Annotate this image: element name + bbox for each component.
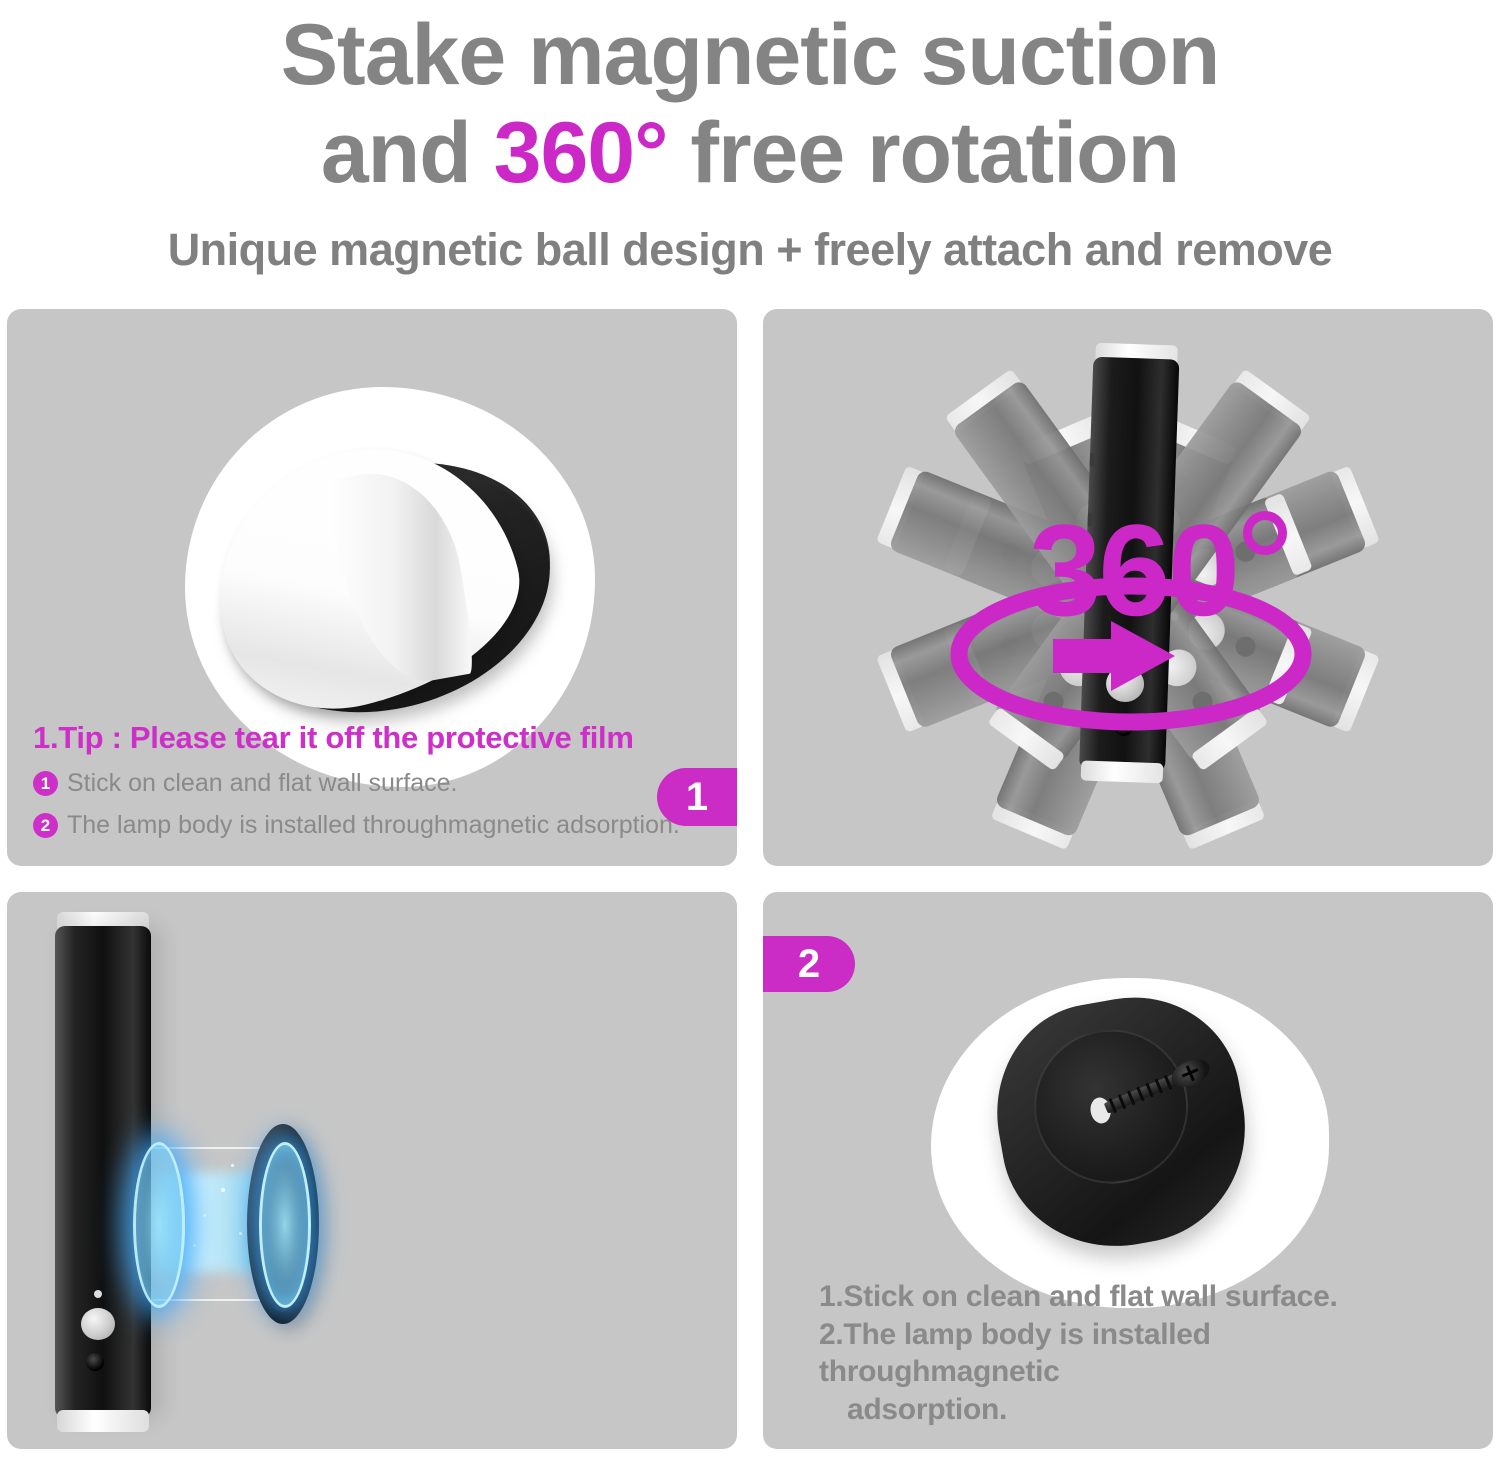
lamp-seam [1090, 453, 1095, 467]
title-suffix: free rotation [668, 105, 1180, 201]
indicator-dot-icon [94, 1290, 102, 1298]
rotation-panel: 360 [763, 309, 1493, 866]
step-badge-2: 2 [763, 936, 855, 992]
magnetic-attachment-panel [7, 892, 737, 1449]
wall-plate-panel: 2 1.Stick on clean and flat wall surface… [763, 892, 1493, 1449]
lamp-body [55, 926, 151, 1418]
spark-particle [231, 1164, 234, 1167]
step-badge-1: 1 [657, 768, 737, 826]
lamp-end-cap-icon [1081, 760, 1164, 783]
page-title-line-1: Stake magnetic suction [0, 6, 1500, 104]
header: Stake magnetic suction and 360° free rot… [0, 0, 1500, 276]
list-item: 1 Stick on clean and flat wall surface. [33, 769, 673, 798]
panel-grid: 1.Tip : Please tear it off the protectiv… [7, 309, 1493, 1451]
degree-symbol-icon [1243, 511, 1287, 555]
page-subtitle: Unique magnetic ball design + freely att… [0, 224, 1500, 276]
title-text-line-1: Stake magnetic suction [281, 7, 1220, 103]
spark-particle [203, 1214, 206, 1217]
title-prefix: and [321, 105, 494, 201]
adhesive-pad-panel: 1.Tip : Please tear it off the protectiv… [7, 309, 737, 866]
numbered-bullet-icon: 2 [33, 813, 58, 838]
pir-sensor-icon [81, 1308, 115, 1340]
adhesive-pad-illustration [215, 437, 565, 737]
rotation-value-text: 360 [1029, 505, 1237, 635]
spark-particle [221, 1188, 225, 1192]
rotation-annotation: 360 [903, 469, 1363, 749]
panel1-caption: 1.Tip : Please tear it off the protectiv… [33, 720, 673, 840]
magnetic-glow-ring-right [259, 1142, 311, 1308]
spark-particle [239, 1232, 242, 1235]
wall-lamp-product [55, 910, 151, 1435]
page-title-line-2: and 360° free rotation [0, 104, 1500, 202]
tip-line: 1.Tip : Please tear it off the protectiv… [33, 720, 673, 756]
panel4-caption: 1.Stick on clean and flat wall surface. … [819, 1278, 1459, 1429]
list-item: 2 The lamp body is installed throughmagn… [33, 811, 673, 840]
lamp-end-cap-icon [57, 1410, 149, 1432]
caption-line-2: 2.The lamp body is installed throughmagn… [819, 1316, 1459, 1392]
rotation-fan-stage: 360 [763, 309, 1493, 866]
title-accent-360: 360° [494, 105, 668, 201]
bullet-text: Stick on clean and flat wall surface. [67, 769, 457, 798]
caption-line-3: adsorption. [819, 1391, 1459, 1429]
magnetic-glow-ring-left [133, 1142, 185, 1308]
power-button-icon [86, 1353, 104, 1371]
caption-line-1: 1.Stick on clean and flat wall surface. [819, 1278, 1459, 1316]
bullet-text: The lamp body is installed throughmagnet… [67, 811, 680, 840]
numbered-bullet-icon: 1 [33, 771, 58, 796]
spark-particle [193, 1244, 196, 1247]
